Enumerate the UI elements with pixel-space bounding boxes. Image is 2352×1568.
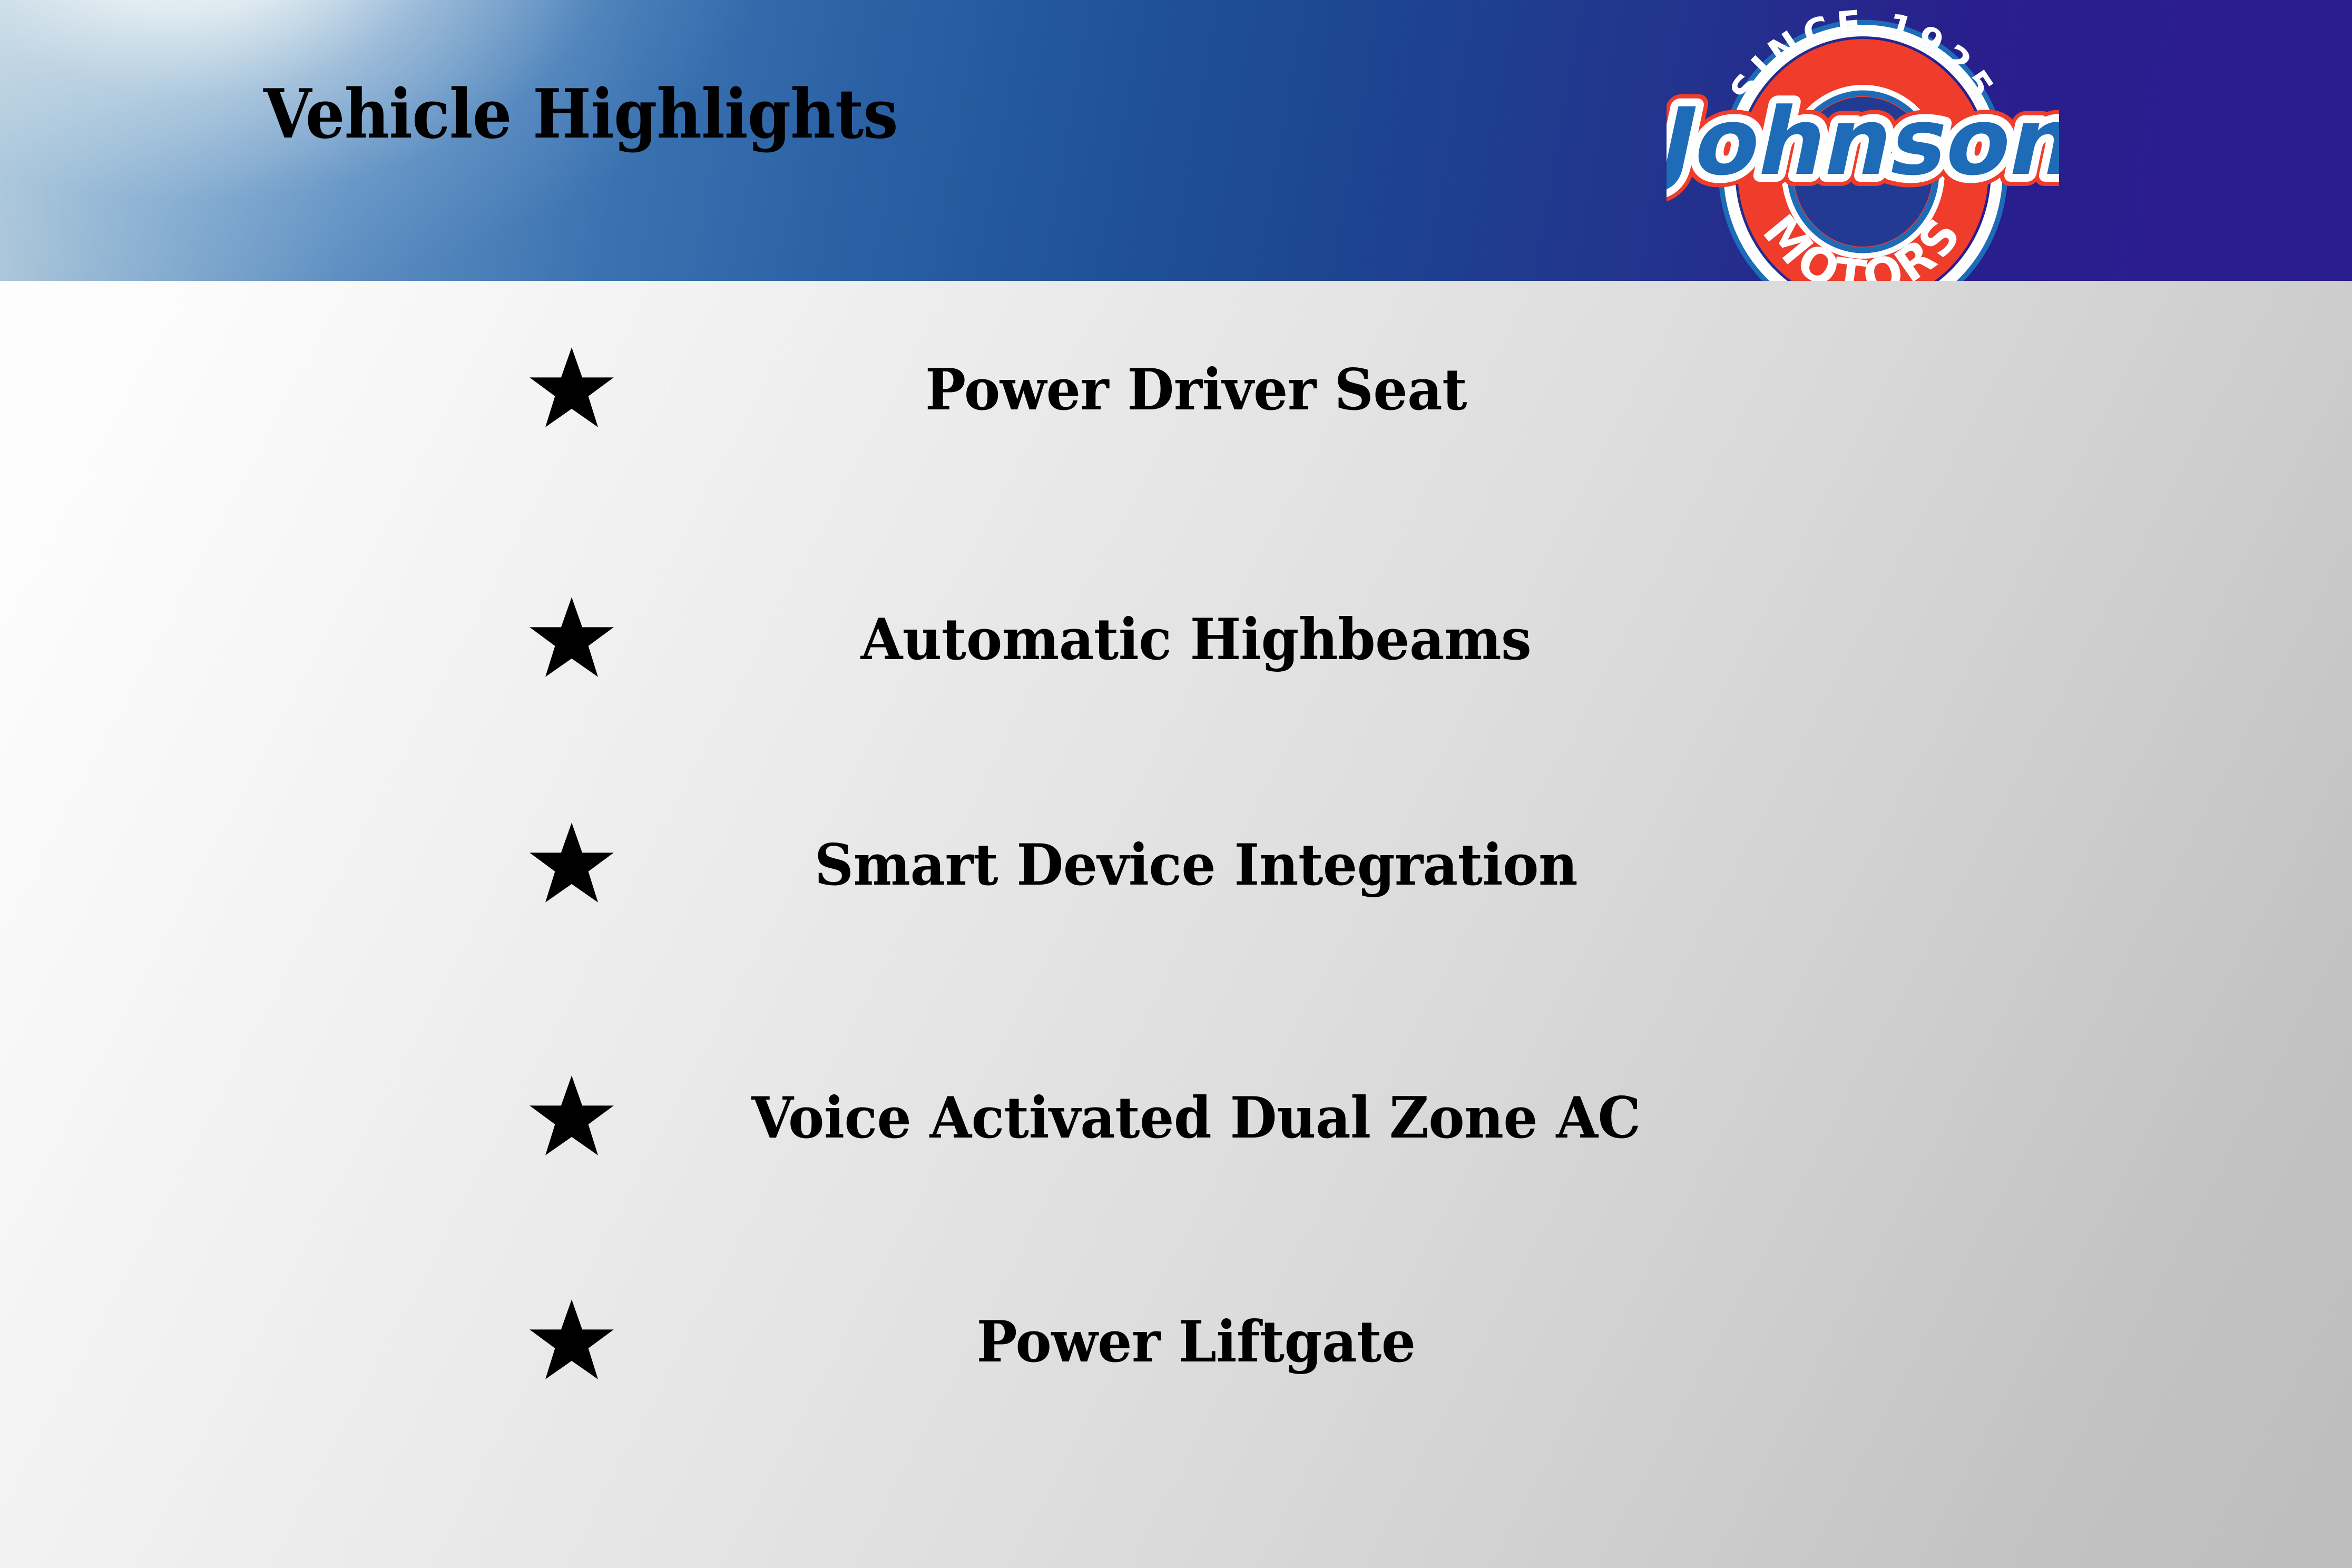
star-bullet-icon (527, 1298, 616, 1387)
list-item-label: Smart Device Integration (711, 831, 1682, 900)
list-item: Power Liftgate (0, 1295, 2352, 1390)
star-bullet-icon (527, 595, 616, 685)
list-item: Voice Activated Dual Zone AC (0, 1034, 2352, 1203)
slide-header-band: Vehicle Highlights (0, 0, 2352, 281)
list-item-label: Voice Activated Dual Zone AC (711, 1084, 1682, 1153)
svg-text:Johnson: Johnson (1667, 88, 2059, 196)
star-bullet-icon (527, 1074, 616, 1163)
list-item-label: Automatic Highbeams (711, 605, 1682, 675)
list-item: Power Driver Seat (0, 343, 2352, 438)
star-bullet-icon (527, 346, 616, 435)
page-title: Vehicle Highlights (263, 79, 898, 150)
list-item: Automatic Highbeams (0, 593, 2352, 688)
list-item-label: Power Driver Seat (711, 356, 1682, 425)
johnson-motors-logo: SINCE 1925 SINCE 1925 MOTORS MOTORS John… (1667, 4, 2059, 281)
highlights-list: Power Driver Seat Automatic Highbeams Sm… (0, 281, 2352, 1568)
list-item-label: Power Liftgate (711, 1308, 1682, 1377)
logo-johnson-wordmark: Johnson Johnson Johnson (1667, 88, 2059, 196)
star-bullet-icon (527, 821, 616, 910)
vehicle-highlights-slide: Vehicle Highlights (0, 0, 2352, 1568)
list-item: Smart Device Integration (0, 818, 2352, 913)
